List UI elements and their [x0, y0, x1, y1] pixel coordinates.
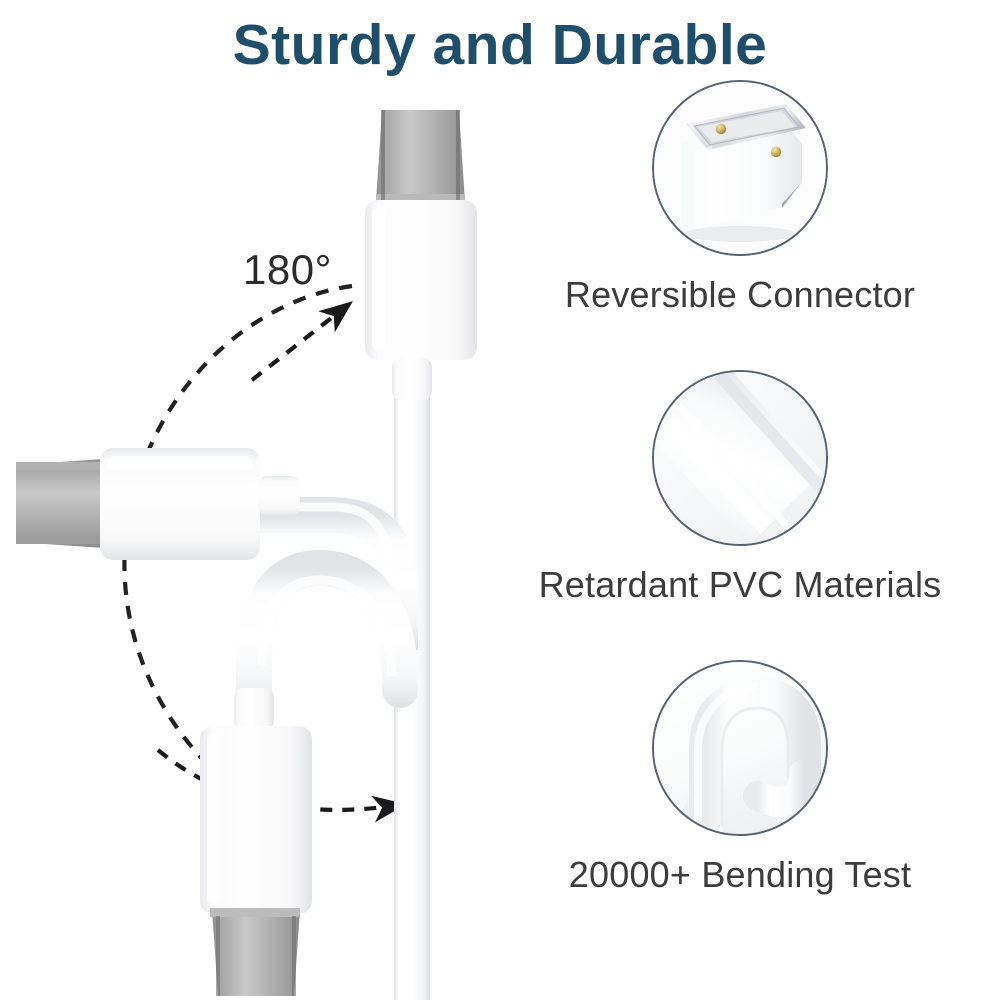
reversible-connector-graphic [654, 82, 826, 254]
pvc-material-graphic [654, 372, 826, 544]
bending-test-graphic [654, 662, 826, 834]
cable-u-bend [254, 568, 400, 710]
feature-icon-wrap [652, 370, 828, 546]
top-usb-c-connector [365, 110, 477, 400]
reversible-connector-photo [652, 80, 828, 256]
cable-illustration: 180° [0, 90, 520, 1000]
feature-item: Reversible Connector [480, 80, 1000, 316]
feature-caption: 20000+ Bending Test [480, 854, 1000, 896]
cable-illustration-svg [0, 90, 520, 1000]
feature-caption: Retardant PVC Materials [480, 564, 1000, 606]
infographic-page: Sturdy and Durable [0, 0, 1000, 1000]
feature-caption: Reversible Connector [480, 274, 1000, 316]
left-usb-c-connector [16, 448, 300, 560]
feature-icon-wrap [652, 80, 828, 256]
feature-item: Retardant PVC Materials [480, 370, 1000, 606]
feature-icon-wrap [652, 660, 828, 836]
pvc-material-photo [652, 370, 828, 546]
arrow-to-top-connector [252, 305, 348, 380]
bottom-usb-c-connector [200, 688, 312, 996]
bending-test-photo [652, 660, 828, 836]
page-title: Sturdy and Durable [0, 14, 1000, 77]
feature-item: 20000+ Bending Test [480, 660, 1000, 896]
angle-label: 180° [243, 246, 332, 294]
feature-list: Reversible Connector [480, 80, 1000, 980]
